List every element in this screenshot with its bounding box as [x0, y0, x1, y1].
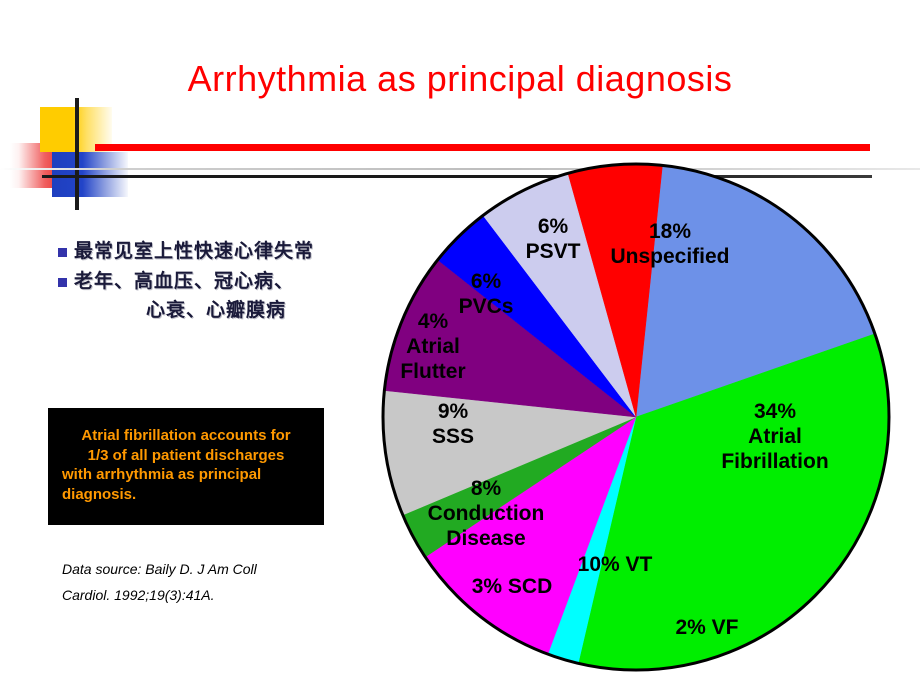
pie-slice-pvcs — [483, 173, 636, 417]
decoration-horizontal-line — [42, 175, 872, 178]
decoration-gray-rule — [0, 168, 920, 170]
list-item: 最常见室上性快速心律失常 — [58, 238, 358, 266]
source-line: Cardiol. 1992;19(3):41A. — [62, 583, 362, 609]
pie-slice-vt — [425, 417, 636, 654]
pie-slice-conduction-disease — [383, 391, 636, 515]
bullet-square-icon — [58, 278, 67, 287]
header-decoration — [0, 95, 920, 180]
pie-slice-vf — [548, 417, 636, 663]
pie-label-group: 18%Unspecified34%AtrialFibrillation2% VF… — [400, 215, 828, 639]
pie-label-unspecified: 18%Unspecified — [610, 220, 729, 268]
pie-slice-unspecified — [636, 165, 875, 417]
decoration-red-bar — [95, 144, 870, 151]
callout-line: diagnosis. — [62, 485, 310, 505]
pie-label-vf: 2% VF — [675, 616, 738, 639]
bullet-text-continuation: 心衰、心瓣膜病 — [58, 297, 358, 325]
pie-label-scd: 3% SCD — [472, 575, 553, 598]
source-line: Data source: Baily D. J Am Coll — [62, 557, 362, 583]
pie-label-conduction-disease: 8%ConductionDisease — [428, 477, 545, 550]
pie-slice-atrial-fibrillation — [578, 334, 889, 670]
bullet-square-icon — [58, 248, 67, 257]
data-source-citation: Data source: Baily D. J Am Coll Cardiol.… — [62, 557, 362, 609]
callout-line: with arrhythmia as principal — [62, 465, 310, 485]
pie-label-sss: 9%SSS — [432, 400, 474, 448]
pie-label-psvt: 6%PSVT — [526, 215, 581, 263]
pie-outline — [383, 164, 889, 670]
callout-line: Atrial fibrillation accounts for — [62, 426, 310, 446]
bullet-text: 老年、高血压、冠心病、 — [74, 268, 294, 296]
callout-line: 1/3 of all patient discharges — [62, 446, 310, 466]
pie-label-pvcs: 6%PVCs — [459, 270, 514, 318]
pie-slice-psvt — [568, 164, 662, 417]
pie-label-atrial-fibrillation: 34%AtrialFibrillation — [721, 400, 828, 473]
pie-slice-scd — [403, 417, 636, 557]
list-item: 老年、高血压、冠心病、 — [58, 268, 358, 296]
callout-box: Atrial fibrillation accounts for 1/3 of … — [48, 408, 324, 525]
pie-label-atrial-flutter: 4%AtrialFlutter — [400, 310, 465, 383]
pie-label-vt: 10% VT — [578, 553, 653, 576]
decoration-vertical-line — [75, 98, 79, 210]
bullet-text: 最常见室上性快速心律失常 — [74, 238, 314, 266]
pie-slice-sss — [384, 260, 636, 417]
bullet-list: 最常见室上性快速心律失常 老年、高血压、冠心病、 心衰、心瓣膜病 — [58, 238, 358, 325]
pie-slice-group — [383, 164, 889, 670]
page-title: Arrhythmia as principal diagnosis — [0, 58, 920, 100]
pie-slice-atrial-flutter — [438, 215, 636, 417]
